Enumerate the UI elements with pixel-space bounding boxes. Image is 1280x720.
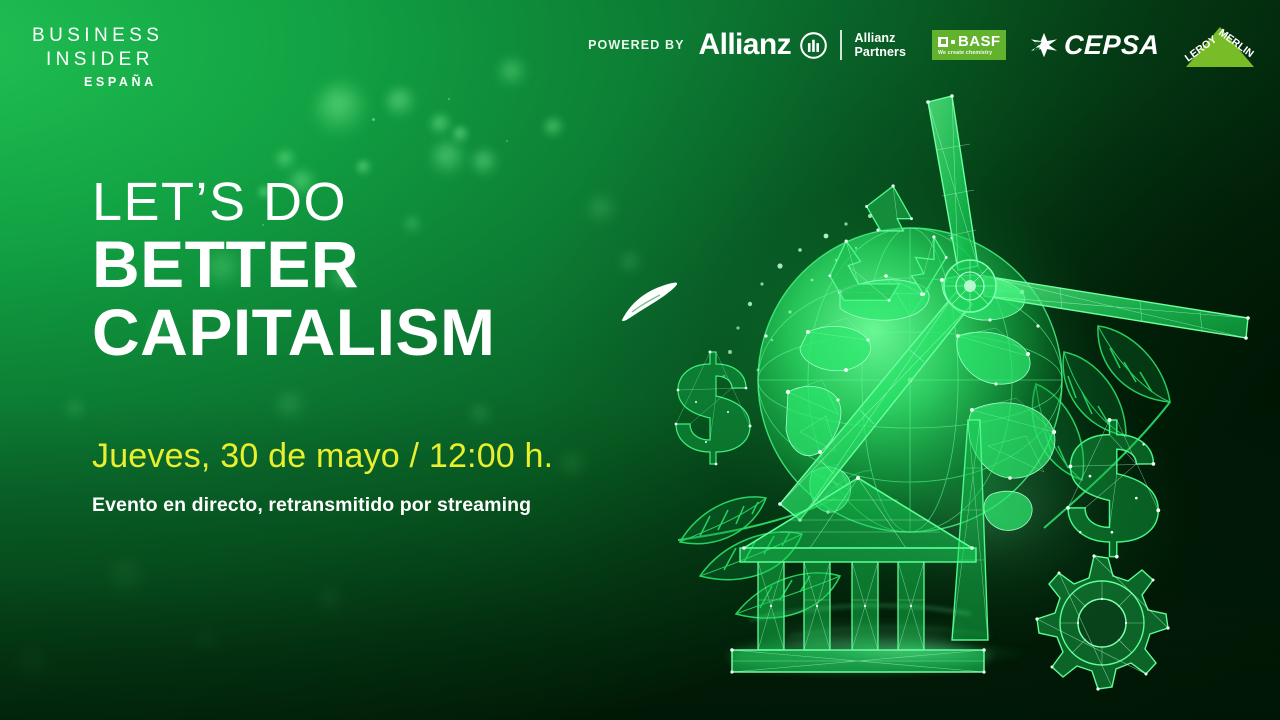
illustration-floor-glow bbox=[760, 636, 1060, 670]
low-poly-sustainability-illustration bbox=[640, 80, 1280, 720]
logo-line-insider: INSIDER bbox=[32, 48, 212, 72]
event-date-time: Jueves, 30 de mayo / 12:00 h. bbox=[92, 437, 553, 476]
logo-line-espana: ESPAÑA bbox=[32, 72, 212, 92]
allianz-partners-logo[interactable]: Allianz Partners bbox=[855, 31, 907, 59]
allianz-partners-line2: Partners bbox=[855, 45, 907, 59]
cepsa-logo[interactable]: CEPSA bbox=[1030, 32, 1160, 59]
basf-dot-icon bbox=[951, 40, 955, 44]
basf-square-icon bbox=[938, 37, 948, 47]
sponsor-bar: POWERED BY Allianz Allianz Partners BASF… bbox=[588, 22, 1258, 68]
allianz-partners-line1: Allianz bbox=[855, 31, 907, 45]
headline-block: LET’S DO BETTER CAPITALISM bbox=[92, 172, 495, 366]
leroy-merlin-logo[interactable]: LEROY MERLIN bbox=[1182, 21, 1258, 69]
basf-logo[interactable]: BASF We create chemistry bbox=[932, 30, 1006, 59]
sponsor-divider bbox=[840, 30, 842, 60]
cepsa-star-icon bbox=[1030, 32, 1058, 58]
headline-line-capitalism: CAPITALISM bbox=[92, 298, 495, 366]
powered-by-label: POWERED BY bbox=[588, 38, 684, 52]
allianz-bars-circle-icon bbox=[800, 32, 827, 59]
headline-line-better: BETTER bbox=[92, 230, 495, 298]
allianz-logo[interactable]: Allianz bbox=[699, 30, 827, 60]
event-promo-banner: BUSINESS INSIDER ESPAÑA POWERED BY Allia… bbox=[0, 0, 1280, 720]
basf-tagline: We create chemistry bbox=[938, 51, 992, 56]
logo-line-business: BUSINESS bbox=[32, 24, 212, 48]
event-description: Evento en directo, retransmitido por str… bbox=[92, 494, 531, 517]
allianz-wordmark: Allianz bbox=[699, 30, 791, 60]
basf-wordmark: BASF bbox=[958, 34, 1000, 49]
leaf-sprout-icon bbox=[620, 280, 678, 322]
cepsa-wordmark: CEPSA bbox=[1064, 32, 1160, 59]
business-insider-espana-logo[interactable]: BUSINESS INSIDER ESPAÑA bbox=[32, 24, 212, 92]
headline-line-lets-do: LET’S DO bbox=[92, 172, 495, 232]
